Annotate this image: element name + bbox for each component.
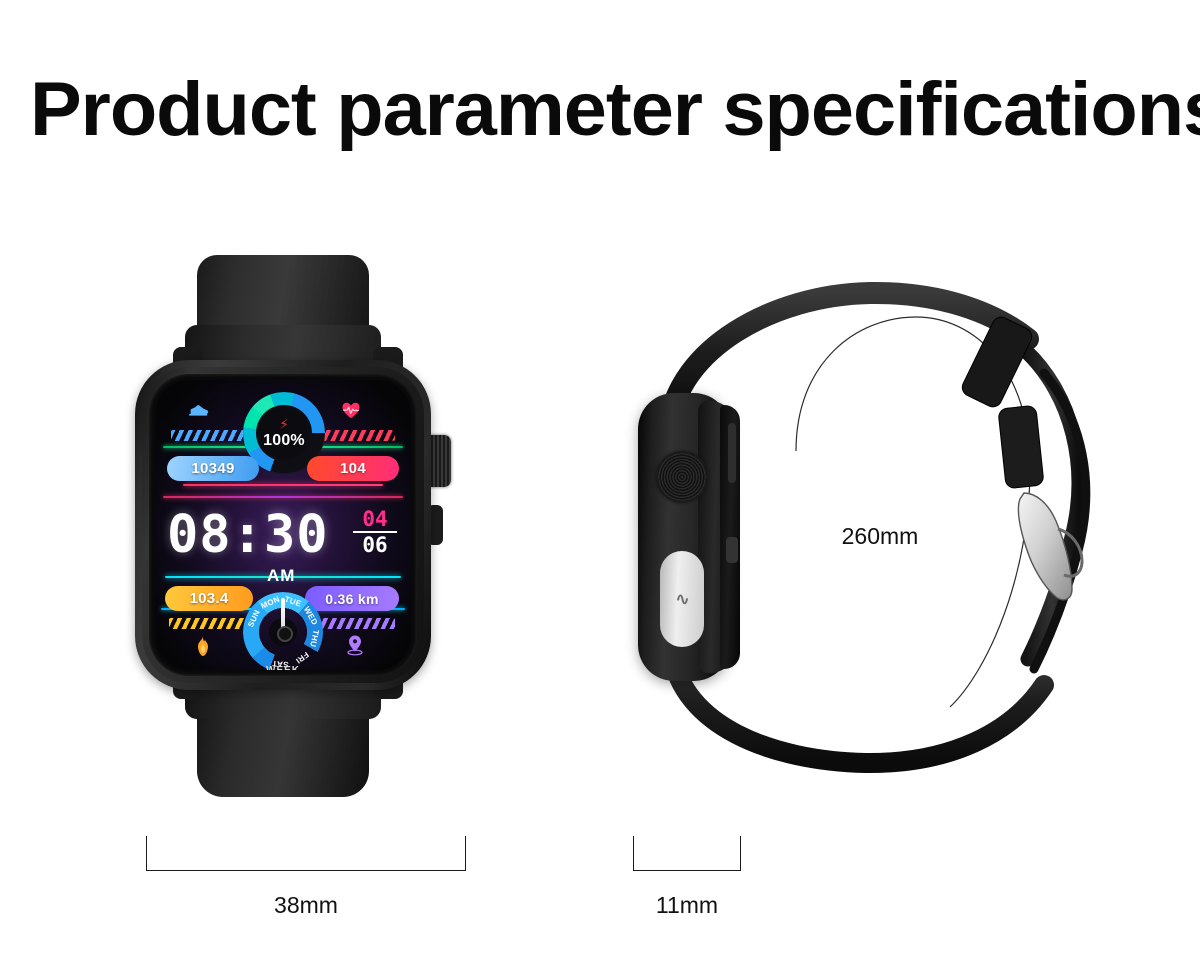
heart-pulse-icon <box>341 402 361 422</box>
dimension-label-width: 38mm <box>146 892 466 919</box>
steps-value-pill: 10349 <box>167 456 259 481</box>
smartwatch-side-view: ∿ 260mm <box>620 255 1140 775</box>
page-title: Product parameter specifications <box>30 72 1200 148</box>
date-day: 06 <box>351 534 399 556</box>
flame-icon <box>195 636 211 660</box>
week-dial-day-sun: SUN <box>246 608 262 628</box>
lightning-bolt-icon: ⚡ <box>279 417 289 431</box>
week-dial-day-thu: THU <box>308 629 320 648</box>
running-shoe-icon <box>189 404 209 421</box>
watch-screen[interactable]: ⚡ 100% 10349 104 103.4 0.36 km 08 : 30 A… <box>155 380 411 670</box>
specification-sheet: Product parameter specifications <box>0 0 1200 958</box>
decor-pink-bow <box>163 496 403 498</box>
watch-strap-bottom <box>197 675 369 797</box>
clock-meridiem: AM <box>267 566 295 586</box>
side-key-icon[interactable] <box>728 423 736 483</box>
clock-colon: : <box>232 505 264 565</box>
smartwatch-front-view: ⚡ 100% 10349 104 103.4 0.36 km 08 : 30 A… <box>135 255 465 795</box>
ecg-waveform-icon: ∿ <box>660 551 704 647</box>
watch-strap-top <box>197 255 369 375</box>
distance-progress-bar <box>315 618 395 629</box>
heart-rate-value-pill: 104 <box>307 456 399 481</box>
week-dial-label: WEEK <box>243 665 323 670</box>
speaker-grille-icon <box>656 451 708 503</box>
decor-red-mid <box>183 484 383 486</box>
week-dial-day-wed: WED <box>302 605 320 627</box>
calories-progress-bar <box>169 618 249 629</box>
date-display: 04 06 <box>351 508 399 556</box>
dimension-label-thickness: 11mm <box>613 892 761 919</box>
week-dial: SUNMONTUEWEDTHUFRISAT WEEK <box>243 592 323 670</box>
week-dial-day-mon: MON <box>259 595 281 611</box>
ecg-waveform-glyph: ∿ <box>675 589 689 610</box>
battery-core: ⚡ 100% <box>256 405 312 461</box>
week-dial-day-tue: TUE <box>283 595 302 609</box>
dimension-bracket-width <box>146 836 466 871</box>
clock-minutes: 30 <box>264 505 329 565</box>
week-dial-day-fri: FRI <box>294 650 311 666</box>
side-key-secondary-icon[interactable] <box>726 537 738 563</box>
clock-hours: 08 <box>167 505 232 565</box>
date-month: 04 <box>351 508 399 530</box>
strap-length-label: 260mm <box>795 523 965 550</box>
calories-value-pill: 103.4 <box>165 586 253 611</box>
clock-display: 08 : 30 <box>167 504 347 566</box>
battery-percent-label: 100% <box>263 432 305 450</box>
location-pin-icon <box>345 634 365 660</box>
dimension-bracket-thickness <box>633 836 741 871</box>
week-dial-day-labels: SUNMONTUEWEDTHUFRISAT <box>243 592 323 670</box>
